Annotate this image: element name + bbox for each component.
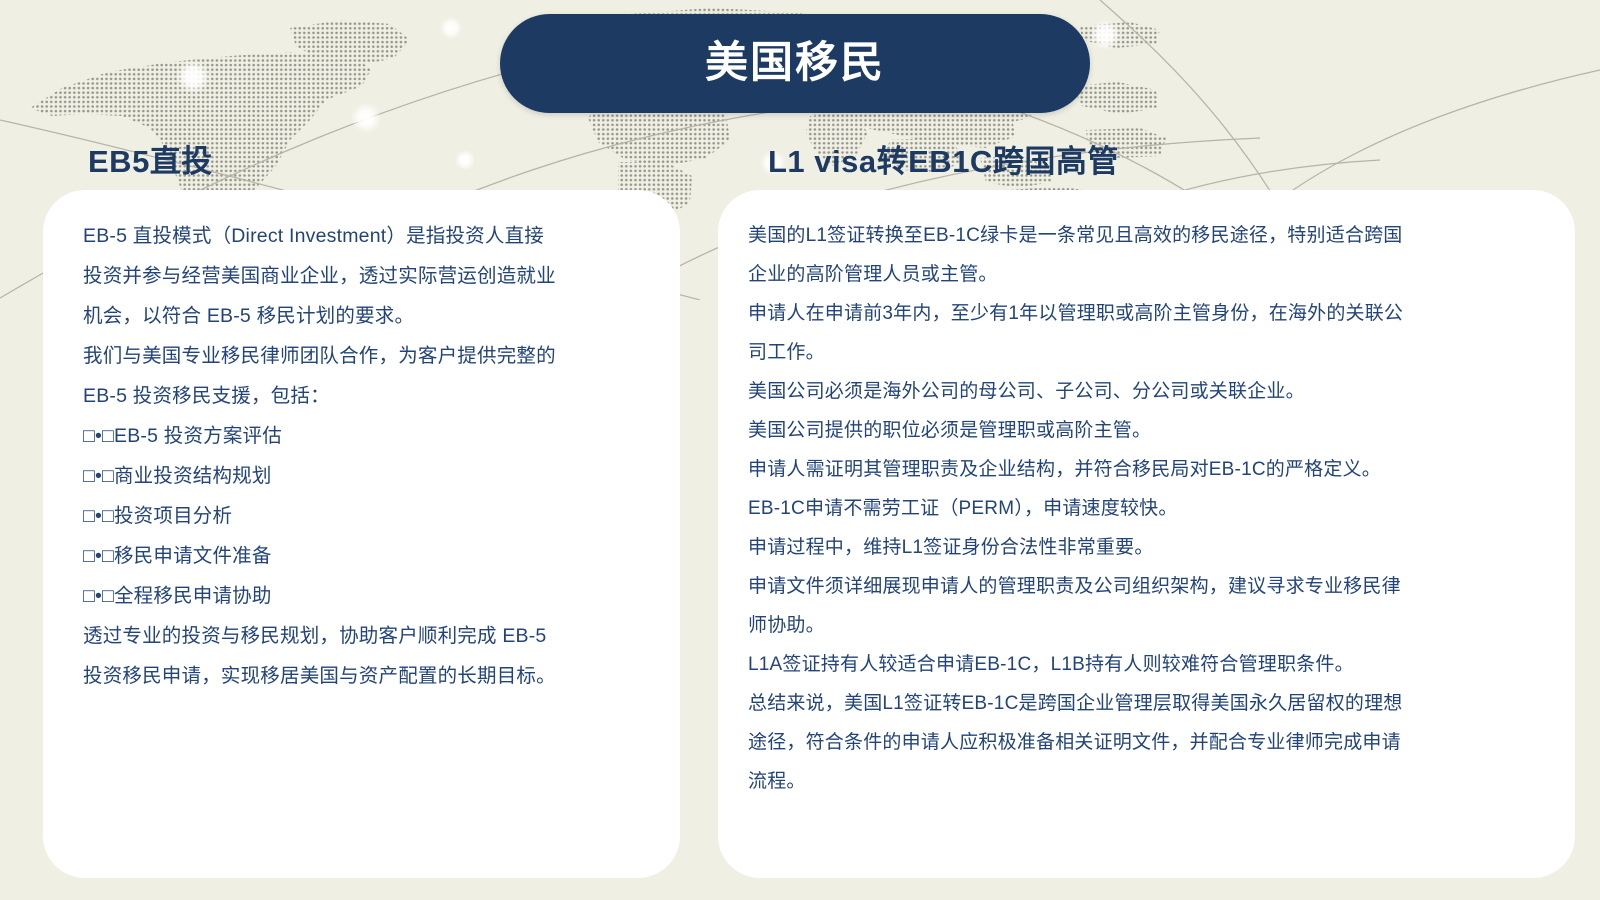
card-eb5-direct-investment: EB-5 直投模式（Direct Investment）是指投资人直接 投资并参…	[43, 190, 680, 878]
body-line: 投资并参与经营美国商业企业，透过实际营运创造就业	[83, 256, 640, 296]
body-line: EB-5 直投模式（Direct Investment）是指投资人直接	[83, 216, 640, 256]
body-line: 机会，以符合 EB-5 移民计划的要求。	[83, 296, 640, 336]
body-line: EB-1C申请不需劳工证（PERM），申请速度较快。	[748, 489, 1537, 528]
map-glow-point	[1090, 20, 1120, 50]
slide-canvas: 美国移民 EB5直投 L1 visa转EB1C跨国高管 EB-5 直投模式（Di…	[0, 0, 1600, 900]
list-item: □•□商业投资结构规划	[83, 456, 640, 496]
body-line: 申请过程中，维持L1签证身份合法性非常重要。	[748, 528, 1537, 567]
body-line: 我们与美国专业移民律师团队合作，为客户提供完整的	[83, 336, 640, 376]
body-line: 美国公司必须是海外公司的母公司、子公司、分公司或关联企业。	[748, 372, 1537, 411]
map-glow-point	[440, 17, 462, 39]
list-item: □•□EB-5 投资方案评估	[83, 416, 640, 456]
body-line: 途径，符合条件的申请人应积极准备相关证明文件，并配合专业律师完成申请	[748, 723, 1537, 762]
card-l1-to-eb1c: 美国的L1签证转换至EB-1C绿卡是一条常见且高效的移民途径，特别适合跨国 企业…	[718, 190, 1575, 878]
page-title: 美国移民	[705, 42, 885, 85]
body-line: 美国公司提供的职位必须是管理职或高阶主管。	[748, 411, 1537, 450]
body-line: 流程。	[748, 762, 1537, 801]
body-line: 企业的高阶管理人员或主管。	[748, 255, 1537, 294]
body-line: 申请人在申请前3年内，至少有1年以管理职或高阶主管身份，在海外的关联公	[748, 294, 1537, 333]
map-glow-point	[351, 103, 381, 133]
card-body-l1-eb1c: 美国的L1签证转换至EB-1C绿卡是一条常见且高效的移民途径，特别适合跨国 企业…	[748, 216, 1537, 801]
body-line: 申请人需证明其管理职责及企业结构，并符合移民局对EB-1C的严格定义。	[748, 450, 1537, 489]
section-heading-eb5: EB5直投	[88, 136, 213, 181]
map-glow-point	[176, 60, 210, 94]
body-line: 投资移民申请，实现移居美国与资产配置的长期目标。	[83, 656, 640, 696]
body-line: 申请文件须详细展现申请人的管理职责及公司组织架构，建议寻求专业移民律	[748, 567, 1537, 606]
body-line: EB-5 投资移民支援，包括：	[83, 376, 640, 416]
body-line: L1A签证持有人较适合申请EB-1C，L1B持有人则较难符合管理职条件。	[748, 645, 1537, 684]
list-item: □•□移民申请文件准备	[83, 536, 640, 576]
body-line: 师协助。	[748, 606, 1537, 645]
section-heading-l1-eb1c: L1 visa转EB1C跨国高管	[768, 136, 1119, 181]
list-item: □•□投资项目分析	[83, 496, 640, 536]
body-line: 美国的L1签证转换至EB-1C绿卡是一条常见且高效的移民途径，特别适合跨国	[748, 216, 1537, 255]
body-line: 透过专业的投资与移民规划，协助客户顺利完成 EB-5	[83, 616, 640, 656]
body-line: 司工作。	[748, 333, 1537, 372]
card-body-eb5: EB-5 直投模式（Direct Investment）是指投资人直接 投资并参…	[83, 216, 640, 696]
list-item: □•□全程移民申请协助	[83, 576, 640, 616]
main-title-banner: 美国移民	[500, 14, 1090, 113]
map-glow-point	[455, 150, 475, 170]
body-line: 总结来说，美国L1签证转EB-1C是跨国企业管理层取得美国永久居留权的理想	[748, 684, 1537, 723]
